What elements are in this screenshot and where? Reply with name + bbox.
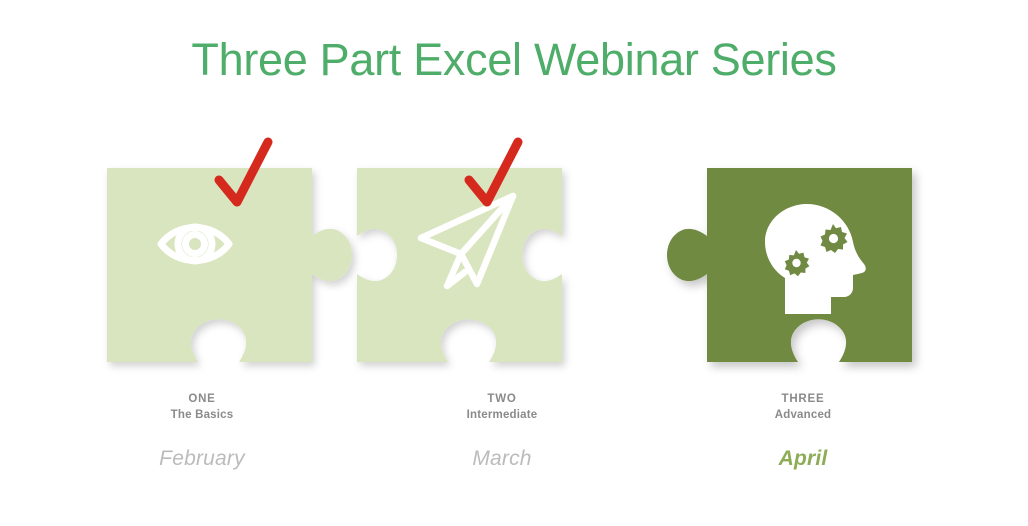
piece-one-subtitle: The Basics (52, 407, 352, 423)
piece-one-number: ONE (52, 391, 352, 407)
piece-two-caption: TWO Intermediate (352, 391, 652, 423)
slide-canvas: Three Part Excel Webinar Series (0, 0, 1028, 526)
piece-one-month: February (52, 447, 352, 471)
piece-one-caption: ONE The Basics (52, 391, 352, 423)
puzzle-piece-three[interactable] (655, 150, 955, 390)
piece-three-subtitle: Advanced (653, 407, 953, 423)
piece-two-subtitle: Intermediate (352, 407, 652, 423)
piece-three-month: April (653, 447, 953, 471)
puzzle-piece-two[interactable]: ✓ (355, 150, 655, 390)
puzzle-piece-three-graphic[interactable] (655, 150, 955, 390)
piece-three-caption: THREE Advanced (653, 391, 953, 423)
puzzle-piece-two-graphic[interactable] (355, 150, 655, 390)
puzzle-piece-one[interactable]: ✓ (55, 150, 355, 390)
piece-two-month: March (352, 447, 652, 471)
piece-three-number: THREE (653, 391, 953, 407)
page-title: Three Part Excel Webinar Series (0, 34, 1028, 86)
puzzle-piece-one-graphic[interactable] (55, 150, 355, 390)
piece-two-number: TWO (352, 391, 652, 407)
